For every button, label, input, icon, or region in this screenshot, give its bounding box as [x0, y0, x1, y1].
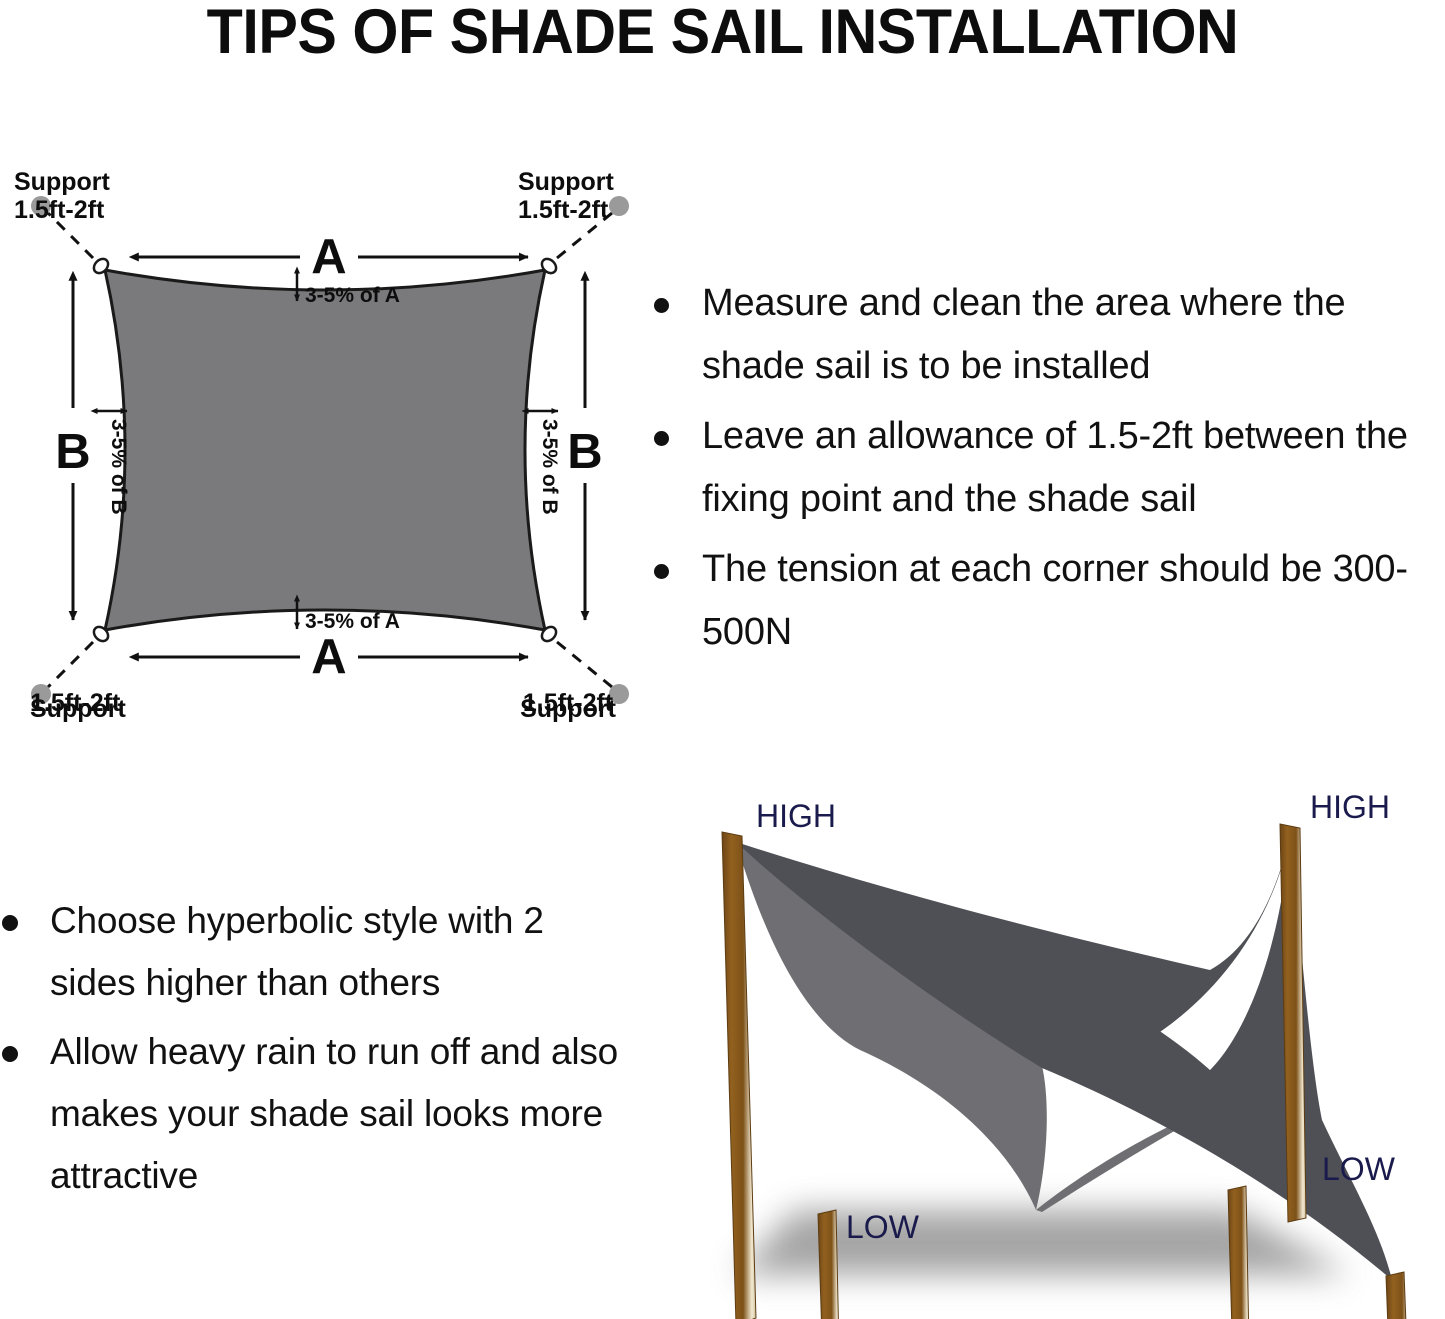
- post-low-right: [1386, 1272, 1412, 1319]
- label-high-right: HIGH: [1310, 789, 1390, 825]
- list-item: Measure and clean the area where the sha…: [648, 272, 1445, 398]
- curve-label-bottom: 3-5% of A: [305, 610, 400, 633]
- support-label-top-left-line1: Support: [14, 168, 110, 196]
- list-item: The tension at each corner should be 300…: [648, 538, 1445, 664]
- curve-label-left: 3-5% of B: [107, 419, 130, 515]
- list-item: Allow heavy rain to run off and also mak…: [0, 1021, 620, 1207]
- support-label-top-right-line2: 1.5ft-2ft: [518, 196, 609, 224]
- installation-tips-list: Measure and clean the area where the sha…: [648, 272, 1445, 664]
- sail-shape: [105, 270, 545, 630]
- rect-diagram-svg: A 3-5% of A A 3-5% of A B: [0, 165, 660, 730]
- installation-tips-panel: Measure and clean the area where the sha…: [648, 272, 1445, 671]
- hyperbolic-sail-diagram: HIGH HIGH LOW LOW: [650, 780, 1445, 1319]
- list-item-text: Leave an allowance of 1.5-2ft between th…: [702, 415, 1408, 520]
- bullet-dot-icon: [654, 431, 669, 446]
- list-item-text: Choose hyperbolic style with 2 sides hig…: [50, 900, 544, 1003]
- infographic-page: TIPS OF SHADE SAIL INSTALLATION: [0, 0, 1445, 1319]
- support-dot-top-right: [609, 196, 629, 216]
- label-low-right: LOW: [1322, 1151, 1396, 1187]
- post-high-left: [722, 832, 756, 1319]
- list-item: Choose hyperbolic style with 2 sides hig…: [0, 890, 620, 1014]
- support-label-top-left-line2: 1.5ft-2ft: [14, 196, 105, 224]
- rectangular-sail-diagram: A 3-5% of A A 3-5% of A B: [0, 165, 660, 730]
- dimension-label-b-left: B: [55, 425, 90, 479]
- dimension-label-b-right: B: [567, 425, 602, 479]
- label-low-left: LOW: [846, 1209, 920, 1245]
- list-item-text: Allow heavy rain to run off and also mak…: [50, 1031, 618, 1196]
- bullet-dot-icon: [2, 915, 18, 931]
- curve-label-top: 3-5% of A: [305, 284, 400, 307]
- support-label-bottom-right-line2: 1.5ft-2ft: [523, 688, 613, 718]
- post-low-left: [818, 1210, 840, 1319]
- dimension-label-a-top: A: [311, 230, 346, 284]
- list-item-text: Measure and clean the area where the sha…: [702, 282, 1345, 387]
- curve-label-right: 3-5% of B: [538, 419, 561, 515]
- bullet-dot-icon: [654, 564, 669, 579]
- list-item-text: The tension at each corner should be 300…: [702, 548, 1408, 653]
- support-label-bottom-left-line2: 1.5ft-2ft: [30, 688, 120, 718]
- label-high-left: HIGH: [756, 798, 836, 834]
- bullet-dot-icon: [2, 1046, 18, 1062]
- hyperbolic-tips-list: Choose hyperbolic style with 2 sides hig…: [0, 890, 620, 1207]
- post-mid-right: [1228, 1186, 1250, 1319]
- page-title: TIPS OF SHADE SAIL INSTALLATION: [43, 0, 1401, 68]
- list-item: Leave an allowance of 1.5-2ft between th…: [648, 405, 1445, 531]
- support-label-top-right-line1: Support: [518, 168, 614, 196]
- dimension-label-a-bottom: A: [311, 630, 346, 684]
- bullet-dot-icon: [654, 298, 669, 313]
- hyper-diagram-svg: HIGH HIGH LOW LOW: [650, 780, 1445, 1319]
- hyperbolic-tips-panel: Choose hyperbolic style with 2 sides hig…: [0, 890, 620, 1214]
